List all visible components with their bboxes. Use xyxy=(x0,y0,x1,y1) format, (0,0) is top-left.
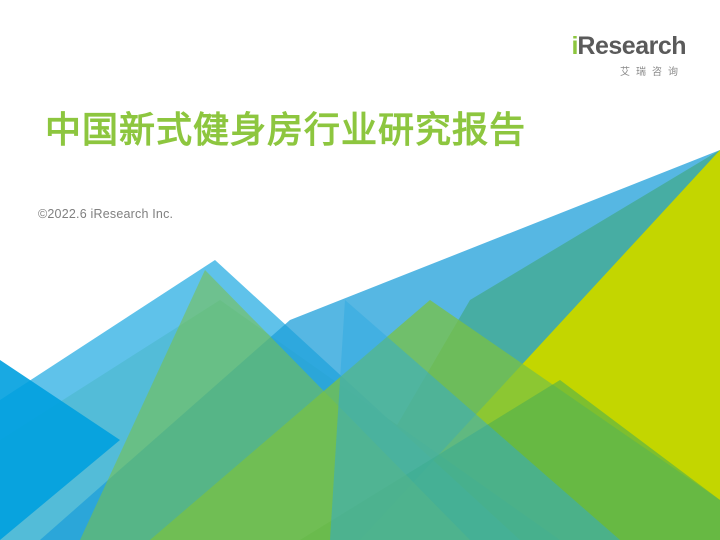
logo-research-text: Research xyxy=(577,32,686,60)
iresearch-logo: iResearch 艾瑞咨询 xyxy=(566,34,686,82)
page-title: 中国新式健身房行业研究报告 xyxy=(45,108,526,151)
logo-wordmark: iResearch xyxy=(566,34,686,59)
logo-chinese-text: 艾瑞咨询 xyxy=(566,63,686,78)
copyright-notice: ©2022.6 iResearch Inc. xyxy=(38,207,173,221)
slide-canvas: iResearch 艾瑞咨询 中国新式健身房行业研究报告 ©2022.6 iRe… xyxy=(0,0,720,540)
